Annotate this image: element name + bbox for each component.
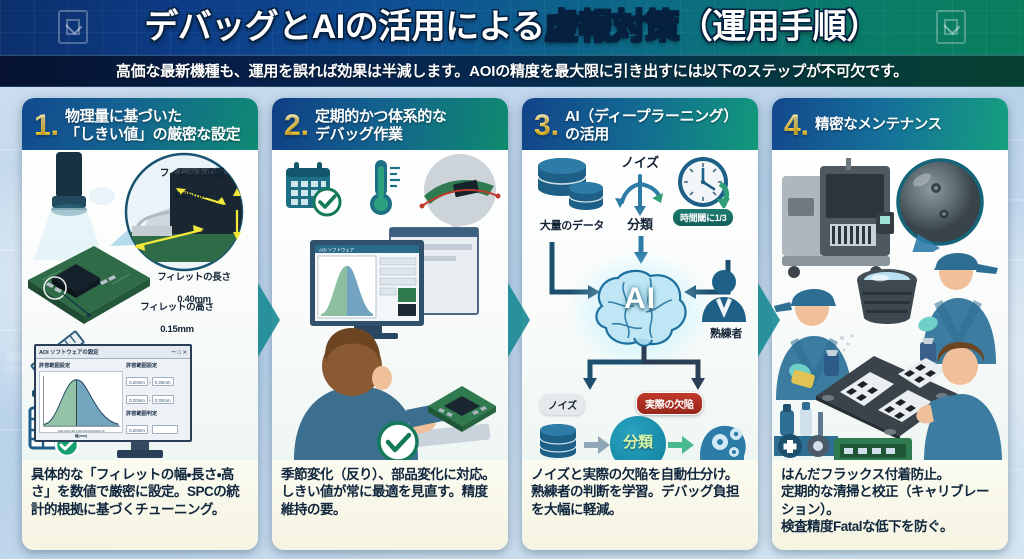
badge-time-reduction: 時間閾に1/3 — [672, 208, 734, 227]
tolerance-max-1[interactable]: 0.30mm — [152, 377, 174, 386]
header-bar: デバッグとAIの活用による虚報対策（運用手順） — [0, 0, 1024, 55]
monitor-stand — [117, 450, 163, 458]
fillet-width-annotation: フィレットの幅 0.25mm — [142, 158, 242, 202]
step-4-number: 4. — [780, 111, 809, 141]
steps-container: 1. 物理量に基づいた 「しきい値」の厳密な設定 — [0, 93, 1024, 559]
lens-closeup-icon — [894, 156, 990, 252]
arrow-right-icon — [668, 436, 694, 454]
fillet-length-label: フィレットの長さ — [157, 272, 230, 283]
tolerance-blank[interactable] — [152, 425, 178, 434]
clock-icon — [674, 154, 734, 212]
range-dash: - — [149, 380, 151, 386]
subheader-bar: 高価な最新機種も、運用を誤れば効果は半減します。AOIの精度を最大限に引き出すに… — [0, 55, 1024, 87]
step-3-header: 3. AI（ディープラーニング） の活用 — [522, 98, 758, 150]
ai-brain-node: AI — [584, 268, 696, 354]
left-section-label: 許容範囲設定 — [39, 362, 123, 369]
step-1-title: 物理量に基づいた 「しきい値」の厳密な設定 — [65, 108, 240, 143]
chart-x-ticks: 0.00 0.10 0.20 0.30 0.40 0.50 0.60 0.70 — [40, 429, 122, 433]
infographic-root: デバッグとAIの活用による虚報対策（運用手順） 高価な最新機種も、運用を誤れば効… — [0, 0, 1024, 559]
tolerance-min-1[interactable]: 0.20mm — [126, 377, 148, 386]
step-2-caption: 季節変化（反り）、部品変化に対応。しきい値が常に最適を見直す。精度維持の要。 — [272, 460, 508, 550]
arrow-right-icon — [584, 436, 610, 454]
page-title-part2: （運用手順） — [679, 8, 880, 46]
thermometer-icon — [364, 158, 410, 218]
step-2-number: 2. — [280, 111, 309, 141]
verified-check-icon — [376, 420, 420, 460]
split-arrows-icon — [608, 174, 674, 220]
output-noise-pill: ノイズ — [540, 394, 585, 415]
fillet-width-value: 0.25mm — [175, 190, 209, 201]
step-panel-4[interactable]: 4. 精密なメンテナンス — [772, 98, 1008, 550]
right-section-1-label: 許容範囲設定 — [126, 362, 187, 369]
step-3-caption: ノイズと実際の欠陥を自動仕分け。熟練者の判断を学習。デバッグ負担を大幅に軽減。 — [522, 460, 758, 550]
step-3-title: AI（ディープラーニング） の活用 — [565, 108, 738, 143]
step-4-illustration — [772, 150, 1008, 460]
step-4-header: 4. 精密なメンテナンス — [772, 98, 1008, 150]
window-controls[interactable]: － □ ✕ — [171, 348, 187, 356]
output-defect-pill: 実際の欠陥 — [636, 392, 703, 415]
tolerance-row-1: 0.20mm-0.30mm — [126, 371, 187, 389]
fillet-height-value: 0.15mm — [160, 324, 194, 335]
window-title-bar: AOI ソフトウェアの設定 － □ ✕ — [36, 346, 190, 359]
step-2-title: 定期的かつ体系的な デバッグ作業 — [315, 108, 446, 143]
fillet-width-label: フィレットの幅 — [160, 168, 224, 179]
distribution-chart: 0.00 0.10 0.20 0.30 0.40 0.50 0.60 0.70 — [39, 371, 123, 433]
page-title-part1: デバッグとAIの活用による — [144, 8, 544, 46]
step-1-number: 1. — [30, 111, 59, 141]
step-panel-2[interactable]: 2. 定期的かつ体系的な デバッグ作業 — [272, 98, 508, 550]
aoi-software-window[interactable]: AOI ソフトウェアの設定 － □ ✕ 許容範囲設定 — [34, 344, 192, 442]
right-section-2-label: 許容範囲判定 — [126, 410, 187, 417]
step-2-illustration: AOI ソフトウェア — [272, 150, 508, 460]
window-title-text: AOI ソフトウェアの設定 — [39, 348, 99, 356]
label-noise-top: ノイズ — [606, 156, 674, 171]
fillet-height-label: フィレットの高さ — [140, 302, 213, 313]
label-classify-bottom: 分類 — [610, 434, 666, 451]
tolerance-row-2: 0.20mm-0.30mm — [126, 389, 187, 407]
output-branch-arrows — [564, 346, 724, 396]
step-3-illustration: 大量のデータ ノイズ 分類 — [522, 150, 758, 460]
chip-icon — [422, 366, 502, 436]
tolerance-single[interactable]: 0.20mm — [126, 425, 148, 434]
step-1-header: 1. 物理量に基づいた 「しきい値」の厳密な設定 — [22, 98, 258, 150]
chevron-right-icon — [756, 283, 782, 357]
expert-person-icon — [698, 268, 754, 328]
step-4-title: 精密なメンテナンス — [815, 117, 942, 134]
label-mass-data: 大量のデータ — [526, 220, 618, 233]
step-panel-3[interactable]: 3. AI（ディープラーニング） の活用 — [522, 98, 758, 550]
page-title-highlight: 虚報対策 — [545, 8, 679, 46]
step-panel-1[interactable]: 1. 物理量に基づいた 「しきい値」の厳密な設定 — [22, 98, 258, 550]
database-small-icon — [536, 422, 582, 460]
step-3-number: 3. — [530, 111, 559, 141]
thinking-head-gears-icon — [694, 412, 754, 460]
tolerance-max-2[interactable]: 0.30mm — [152, 395, 174, 404]
database-icon — [534, 156, 610, 218]
svg-text:AOI ソフトウェア: AOI ソフトウェア — [319, 247, 355, 254]
ai-label: AI — [584, 282, 696, 316]
tolerance-min-2[interactable]: 0.20mm — [126, 395, 148, 404]
label-classify-top: 分類 — [606, 218, 674, 233]
pcb-tray-icon — [832, 432, 918, 460]
chart-axis-label: 幅(mm) — [39, 434, 123, 439]
page-title: デバッグとAIの活用による虚報対策（運用手順） — [0, 0, 1024, 54]
subtitle-text: 高価な最新機種も、運用を誤れば効果は半減します。AOIの精度を最大限に引き出すに… — [0, 56, 1024, 87]
inspector-worker-icon — [914, 342, 1008, 460]
range-dash: - — [149, 398, 151, 404]
chevron-right-icon — [256, 283, 282, 357]
single-field-row: 0.20mm — [126, 419, 187, 437]
step-1-caption: 具体的な「フィレットの幅・長さ・高さ」を数値で厳密に設定。SPCの統計的根拠に基… — [22, 460, 258, 550]
label-expert: 熟練者 — [694, 328, 758, 341]
chevron-right-icon — [506, 283, 532, 357]
step-4-caption: はんだフラックス付着防止。 定期的な清掃と校正（キャリブレーション）。 検査精度… — [772, 460, 1008, 550]
step-1-illustration: フィレットの幅 0.25mm フィレットの長さ 0.40mm フィレットの高さ … — [22, 150, 258, 460]
step-2-header: 2. 定期的かつ体系的な デバッグ作業 — [272, 98, 508, 150]
fillet-height-annotation: フィレットの高さ 0.15mm — [122, 292, 232, 336]
